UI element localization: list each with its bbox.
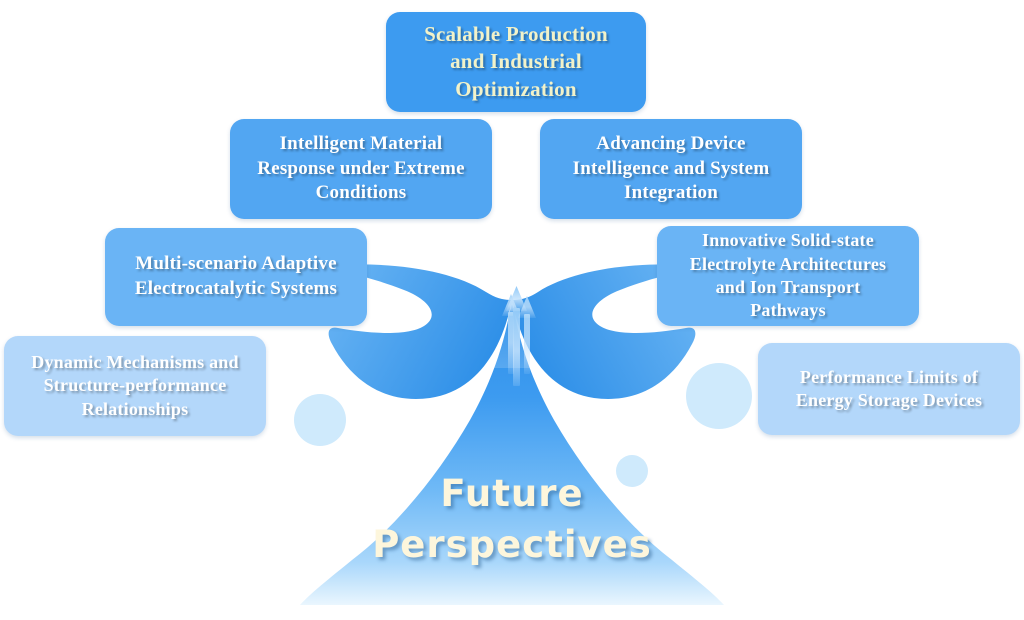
node-label: Innovative Solid-state Electrolyte Archi… — [671, 229, 905, 323]
node-advancing-device-intelligence[interactable]: Advancing Device Intelligence and System… — [540, 119, 802, 219]
node-label: Advancing Device Intelligence and System… — [554, 132, 788, 206]
diagram-canvas: Scalable Production and Industrial Optim… — [0, 0, 1024, 620]
node-label: Scalable Production and Industrial Optim… — [400, 21, 632, 103]
node-label: Intelligent Material Response under Extr… — [244, 132, 478, 206]
node-innovative-solid-state-electrolyte[interactable]: Innovative Solid-state Electrolyte Archi… — [657, 226, 919, 326]
node-label: Multi-scenario Adaptive Electrocatalytic… — [119, 252, 353, 301]
node-scalable-production[interactable]: Scalable Production and Industrial Optim… — [386, 12, 646, 112]
node-intelligent-material-response[interactable]: Intelligent Material Response under Extr… — [230, 119, 492, 219]
node-multi-scenario-adaptive[interactable]: Multi-scenario Adaptive Electrocatalytic… — [105, 228, 367, 326]
node-label: Performance Limits of Energy Storage Dev… — [772, 366, 1006, 413]
node-dynamic-mechanisms[interactable]: Dynamic Mechanisms and Structure-perform… — [4, 336, 266, 436]
node-performance-limits[interactable]: Performance Limits of Energy Storage Dev… — [758, 343, 1020, 435]
node-label: Dynamic Mechanisms and Structure-perform… — [18, 351, 252, 421]
